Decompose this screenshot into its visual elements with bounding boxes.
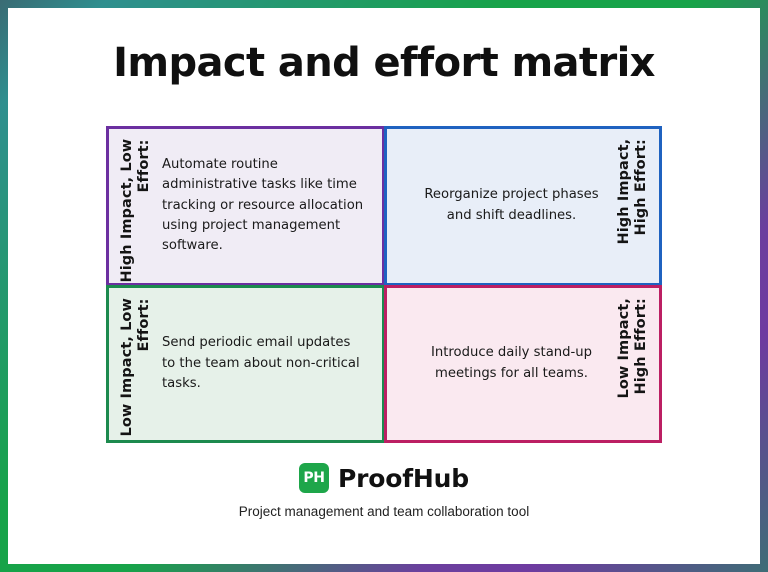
quadrant-description: Introduce daily stand-up meetings for al… xyxy=(387,337,614,390)
quadrant-high-impact-high-effort: Reorganize project phases and shift dead… xyxy=(384,126,662,285)
quadrant-axis-label: High Impact, High Effort: xyxy=(614,129,659,283)
quadrant-high-impact-low-effort: High Impact, Low Effort: Automate routin… xyxy=(106,126,384,285)
quadrant-low-impact-high-effort: Introduce daily stand-up meetings for al… xyxy=(384,285,662,444)
axis-label-line: Effort: xyxy=(136,139,152,273)
poster-canvas: Impact and effort matrix High Impact, Lo… xyxy=(8,8,760,564)
axis-label-line: High Impact, Low xyxy=(119,139,135,273)
axis-label-line: High Effort: xyxy=(633,139,649,273)
page-title: Impact and effort matrix xyxy=(8,40,760,86)
axis-label-line: Low Impact, xyxy=(616,298,632,431)
quadrant-axis-label: Low Impact, Low Effort: xyxy=(109,288,154,441)
gradient-frame: Impact and effort matrix High Impact, Lo… xyxy=(0,0,768,572)
axis-label-line: High Impact, xyxy=(616,139,632,273)
footer: PH ProofHub Project management and team … xyxy=(8,463,760,519)
quadrant-description: Automate routine administrative tasks li… xyxy=(154,149,382,263)
quadrant-description: Send periodic email updates to the team … xyxy=(154,327,382,400)
quadrant-description: Reorganize project phases and shift dead… xyxy=(387,179,614,232)
quadrant-low-impact-low-effort: Low Impact, Low Effort: Send periodic em… xyxy=(106,285,384,444)
impact-effort-matrix: High Impact, Low Effort: Automate routin… xyxy=(106,126,662,443)
brand-row: PH ProofHub xyxy=(8,463,760,493)
quadrant-axis-label: High Impact, Low Effort: xyxy=(109,129,154,283)
axis-label-line: High Effort: xyxy=(633,298,649,431)
proofhub-logo-icon: PH xyxy=(299,463,329,493)
brand-name: ProofHub xyxy=(338,464,469,493)
brand-tagline: Project management and team collaboratio… xyxy=(8,504,760,519)
axis-label-line: Low Impact, Low xyxy=(119,298,135,431)
quadrant-axis-label: Low Impact, High Effort: xyxy=(614,288,659,441)
axis-label-line: Effort: xyxy=(136,298,152,431)
